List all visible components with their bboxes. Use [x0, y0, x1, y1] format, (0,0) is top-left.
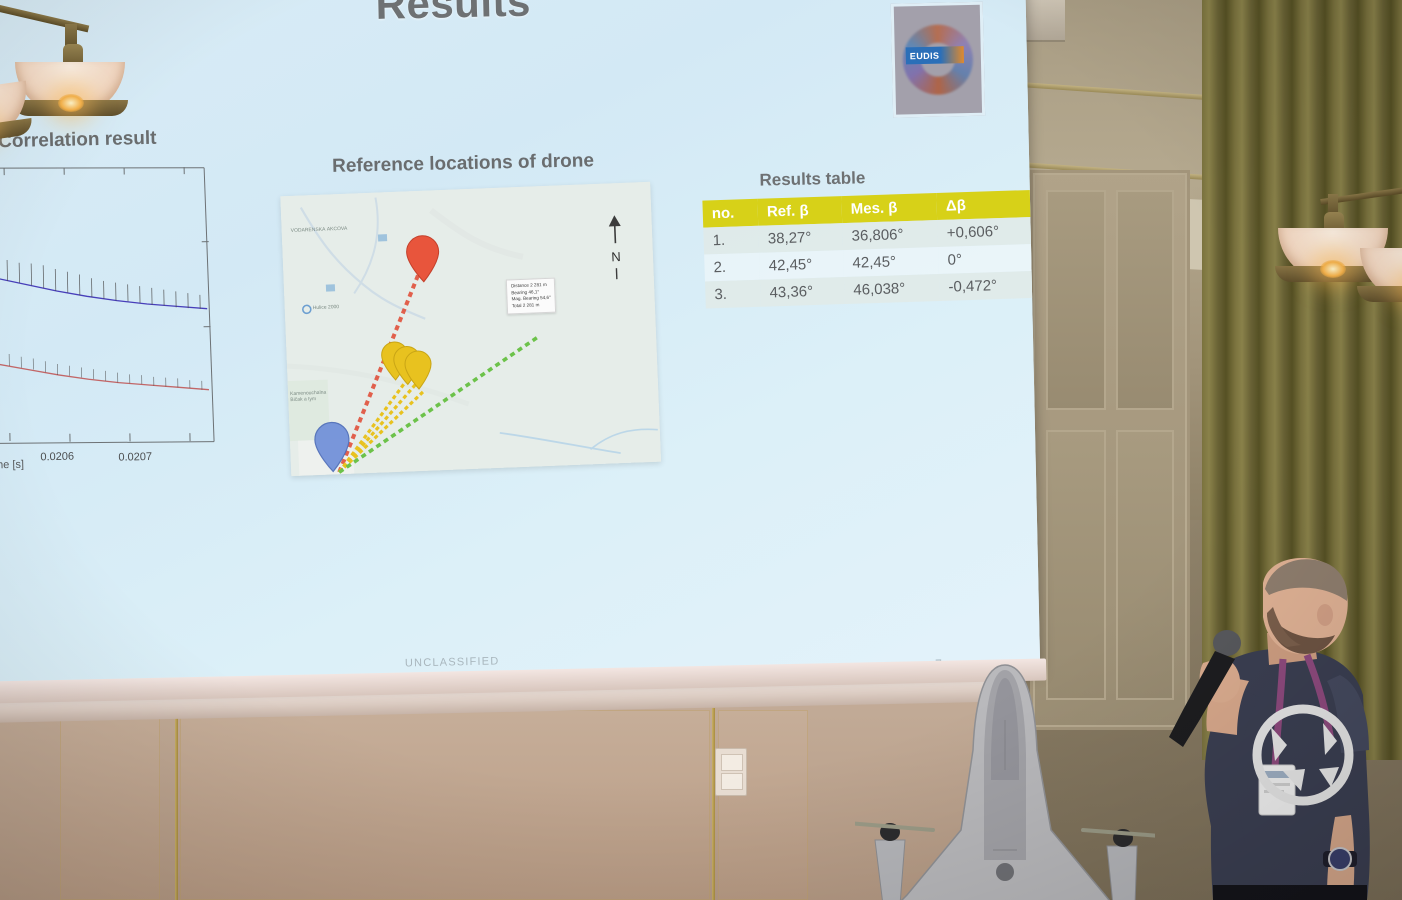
cell-mes: 42,45° [843, 247, 939, 277]
cell-delta: +0,606° [937, 217, 1034, 247]
cell-no: 3. [705, 280, 761, 309]
cell-no: 1. [703, 226, 759, 255]
x-tick-2: 0.0206 [40, 451, 74, 464]
x-axis-label: time [s] [0, 459, 24, 472]
cell-delta: 0° [938, 244, 1035, 274]
chart-heading: ation & Correlation result [0, 125, 269, 154]
reference-locations-map: VODARENSKA AKCOVA Hulice 2000 Kamenoucha… [280, 182, 661, 476]
correlation-chart [0, 152, 220, 459]
cell-delta: -0,472° [939, 271, 1036, 301]
cell-ref: 43,36° [760, 277, 845, 307]
slide: Results EUDIS ation & Correlation result [0, 0, 1040, 682]
presenter [1155, 555, 1402, 900]
wall-panel [718, 710, 808, 900]
screenshot-root: Results EUDIS ation & Correlation result [0, 0, 1402, 900]
cell-no: 2. [704, 253, 760, 282]
cell-ref: 42,45° [759, 250, 844, 280]
light-bulb-icon [1320, 260, 1346, 278]
light-switch[interactable] [715, 748, 747, 796]
projection-screen: Results EUDIS ation & Correlation result [0, 0, 1066, 722]
results-table: no. Ref. β Mes. β Δβ 1. 38,27° 36,806° +… [702, 190, 1035, 309]
map-poi-label: Hulice 2000 [313, 304, 340, 311]
logo-tag: EUDIS [906, 46, 964, 64]
logo-tag-label: EUDIS [906, 50, 940, 61]
door-panel [1116, 190, 1174, 410]
distance-callout: Distance 2 281 m Bearing 46,1° Mag. Bear… [506, 278, 557, 315]
col-no: no. [702, 199, 758, 228]
cell-ref: 38,27° [758, 223, 843, 253]
svg-text:N: N [611, 249, 621, 264]
uav-model [855, 660, 1155, 900]
cell-mes: 36,806° [842, 220, 938, 250]
map-poi-label: Kamenouchalna Bičak a tym [290, 390, 327, 404]
map-heading: Reference locations of drone [332, 150, 594, 178]
x-tick-3: 0.0207 [118, 451, 152, 464]
panel-gold-trim [175, 708, 178, 900]
cell-mes: 46,038° [844, 274, 940, 304]
wall-panel [60, 710, 160, 900]
wall-panel [180, 710, 710, 900]
north-arrow-icon: N [603, 213, 628, 284]
panel-gold-trim [712, 708, 715, 900]
light-bulb-icon [58, 94, 84, 112]
col-ref-beta: Ref. β [758, 196, 843, 226]
col-mes-beta: Mes. β [841, 193, 937, 223]
table-heading: Results table [759, 168, 865, 190]
lower-wall [0, 700, 1000, 900]
page-title: Results [375, 0, 531, 29]
classification-footer: UNCLASSIFIED [405, 655, 500, 669]
col-delta-beta: Δβ [936, 190, 1033, 220]
callout-total: Total 2 281 m [512, 302, 552, 310]
